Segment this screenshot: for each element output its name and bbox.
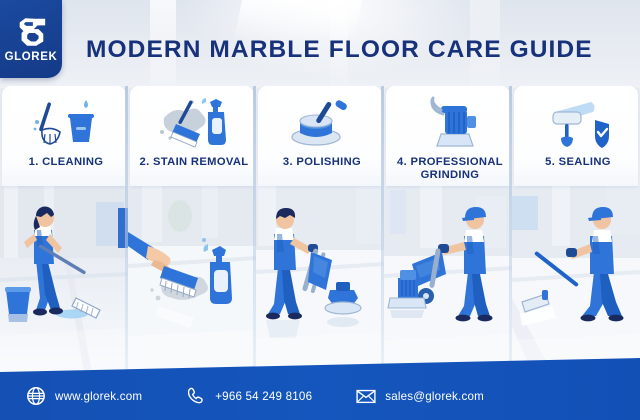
footer: www.glorek.com +966 54 249 8106 sales@gl… — [0, 354, 640, 420]
logo-text: GLOREK — [5, 51, 58, 63]
step-column-sealing[interactable]: 5. SEALING — [512, 86, 640, 372]
step-column-cleaning[interactable]: 1. CLEANING — [0, 86, 128, 372]
hand-scrubbing-stain-illustration — [128, 186, 256, 372]
phone-icon — [186, 386, 206, 406]
header-banner: GLOREK MODERN MARBLE FLOOR CARE GUIDE — [0, 0, 640, 88]
steps-row: 1. CLEANING — [0, 86, 640, 372]
step-label: 4. PROFESSIONAL GRINDING — [386, 156, 512, 181]
step-card: 5. SEALING — [514, 86, 638, 186]
step-label: 5. SEALING — [514, 156, 640, 169]
contact-row: www.glorek.com +966 54 249 8106 sales@gl… — [0, 372, 640, 420]
grinding-machine-icon — [386, 92, 512, 154]
infographic-poster: GLOREK MODERN MARBLE FLOOR CARE GUIDE — [0, 0, 640, 420]
worker-sealing-floor-illustration — [512, 186, 640, 372]
worker-polishing-floor-illustration — [256, 186, 384, 372]
glorek-chain-g-logo-icon — [12, 15, 50, 49]
worker-mopping-floor-illustration — [0, 186, 128, 372]
contact-email[interactable]: sales@glorek.com — [356, 386, 484, 406]
step-label: 1. CLEANING — [2, 156, 128, 169]
step-card: 3. POLISHING — [258, 86, 382, 186]
worker-grinding-floor-illustration — [384, 186, 512, 372]
step-card: 1. CLEANING — [2, 86, 126, 186]
floor-polisher-icon — [258, 92, 384, 154]
contact-website[interactable]: www.glorek.com — [26, 386, 142, 406]
step-label: 2. STAIN REMOVAL — [130, 156, 256, 169]
email-text: sales@glorek.com — [385, 390, 484, 403]
contact-phone[interactable]: +966 54 249 8106 — [186, 386, 312, 406]
globe-icon — [26, 386, 46, 406]
page-title: MODERN MARBLE FLOOR CARE GUIDE — [86, 36, 606, 64]
step-label: 3. POLISHING — [258, 156, 384, 169]
step-card: 4. PROFESSIONAL GRINDING — [386, 86, 510, 186]
step-column-polishing[interactable]: 3. POLISHING — [256, 86, 384, 372]
step-column-stain-removal[interactable]: 2. STAIN REMOVAL — [128, 86, 256, 372]
brand-logo[interactable]: GLOREK — [0, 0, 62, 78]
envelope-icon — [356, 386, 376, 406]
paint-roller-shield-icon — [514, 92, 640, 154]
website-text: www.glorek.com — [55, 390, 142, 403]
step-card: 2. STAIN REMOVAL — [130, 86, 254, 186]
header-ceiling-beam — [234, 0, 363, 40]
phone-text: +966 54 249 8106 — [215, 390, 312, 403]
scrub-brush-and-spray-bottle-icon — [130, 92, 256, 154]
step-column-professional-grinding[interactable]: 4. PROFESSIONAL GRINDING — [384, 86, 512, 372]
mop-and-bucket-icon — [2, 92, 128, 154]
